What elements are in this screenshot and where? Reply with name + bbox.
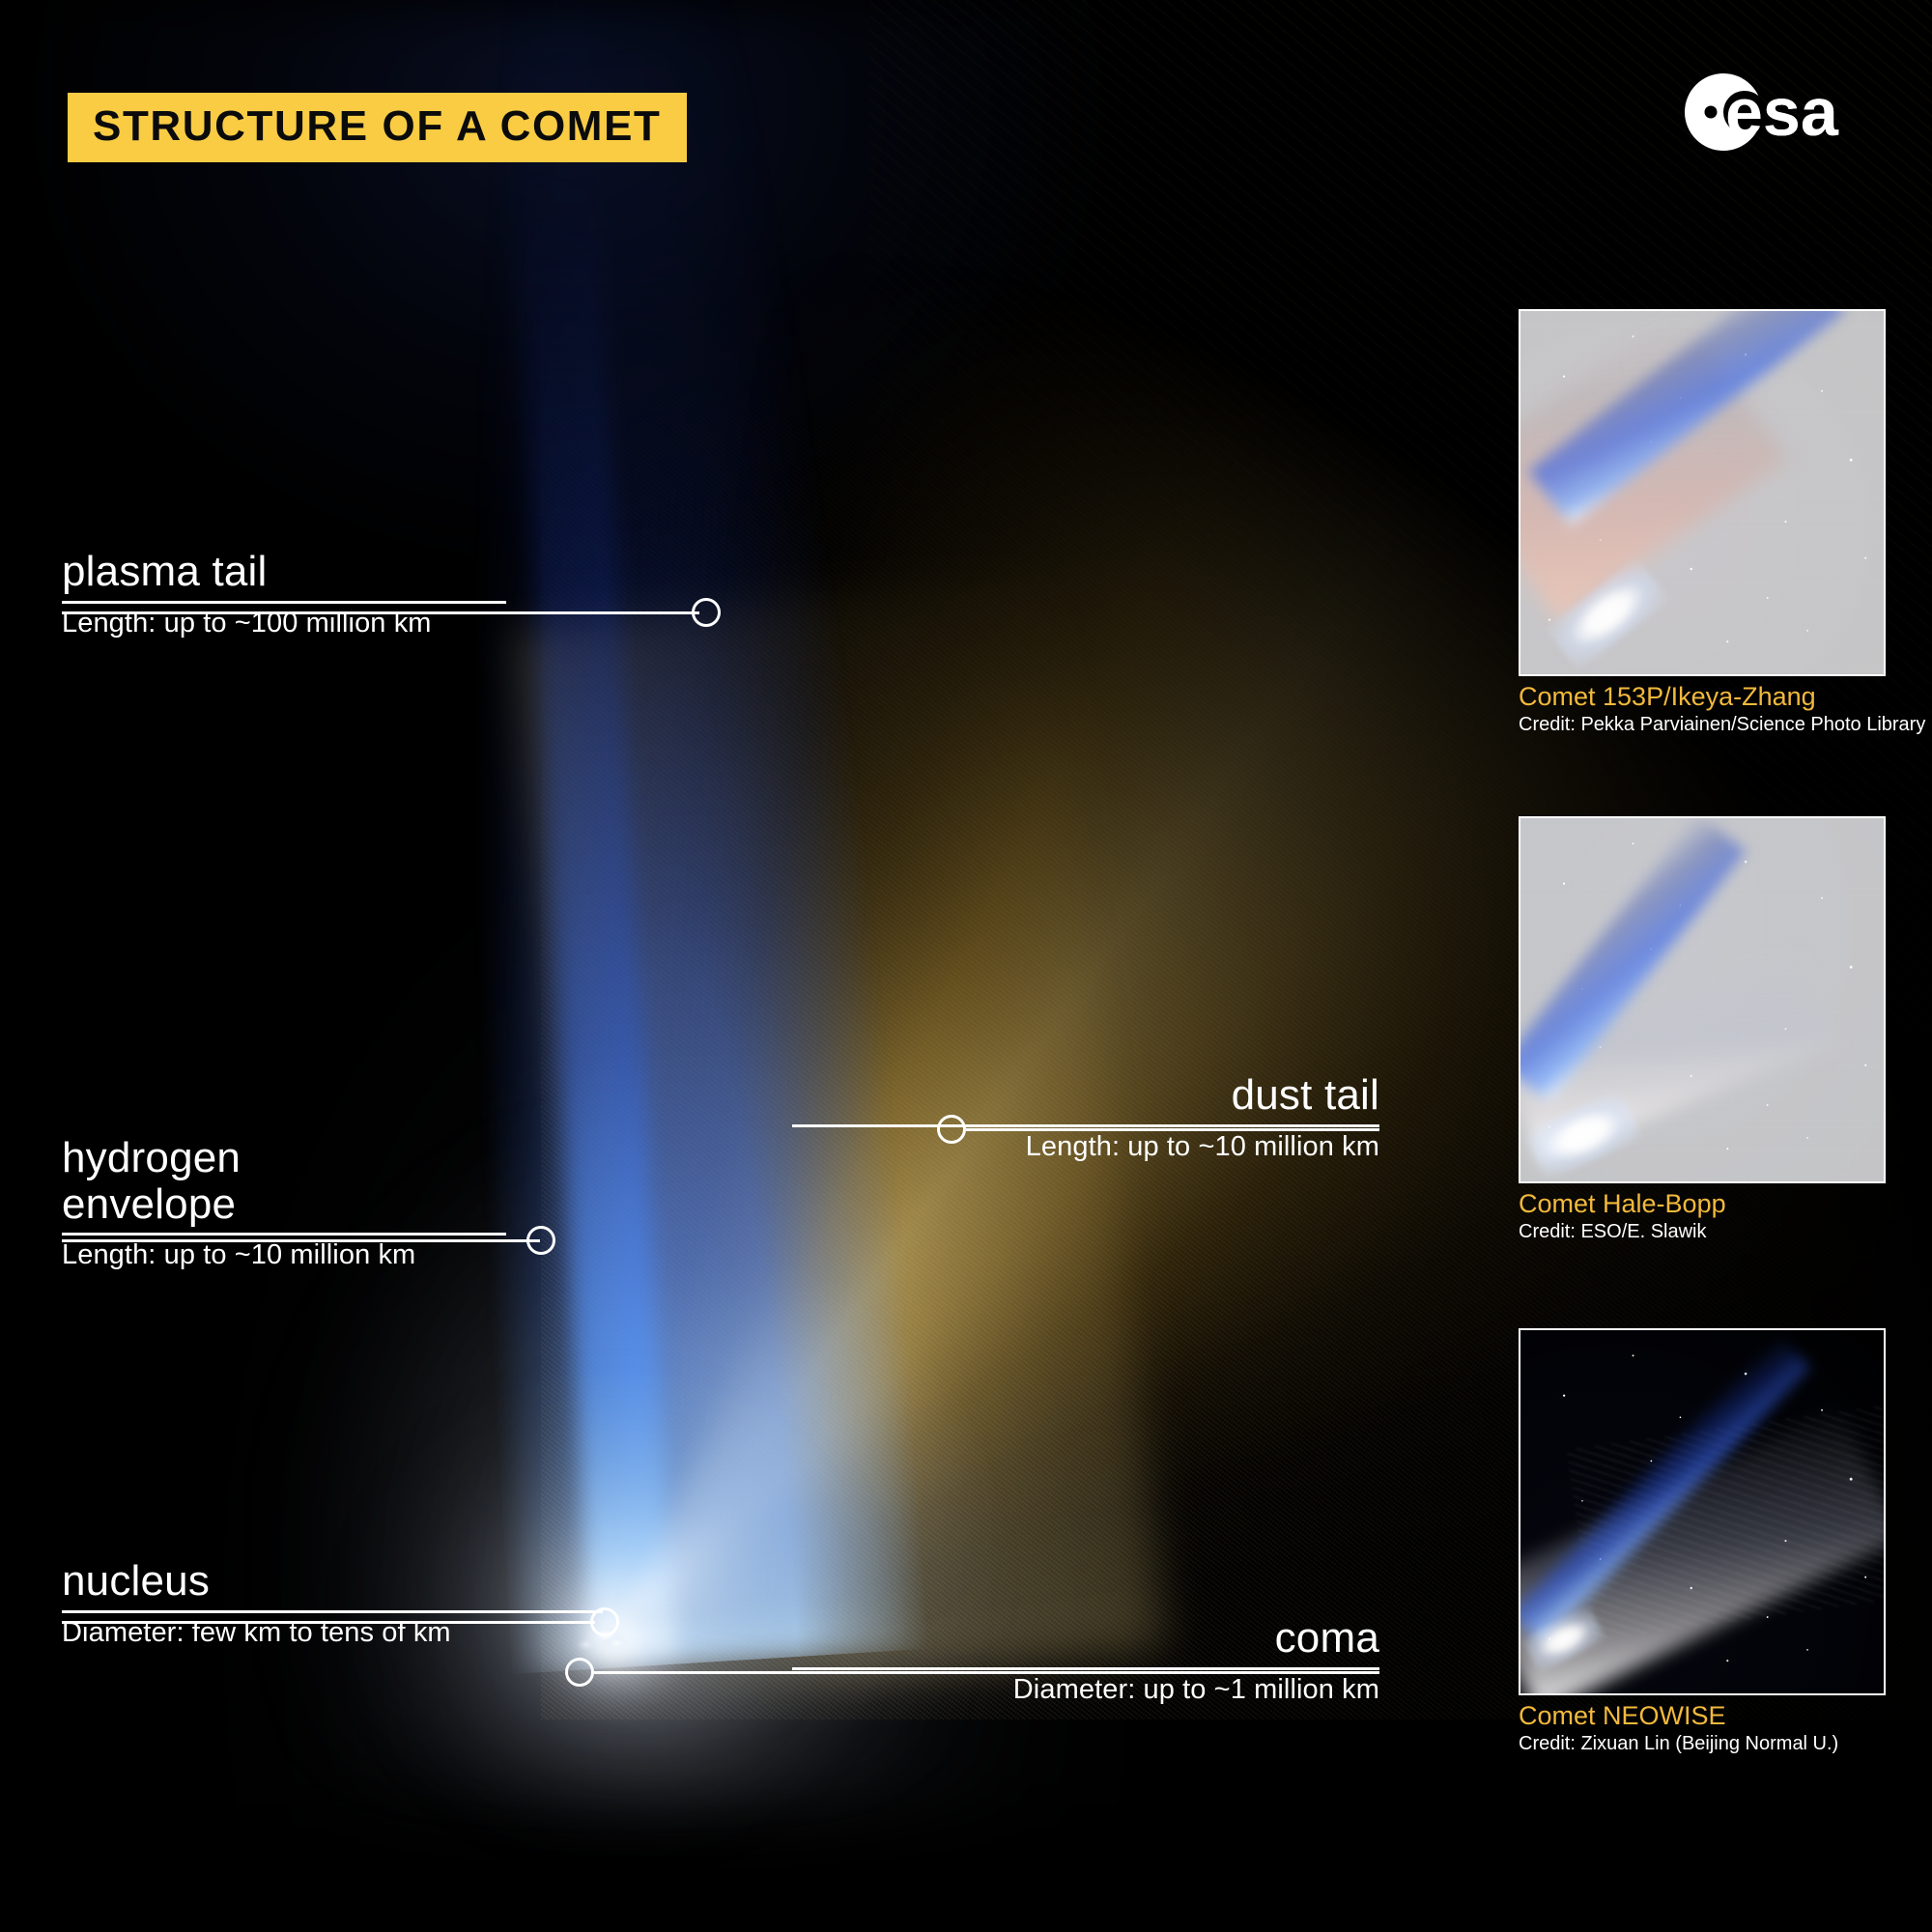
thumbnail-credit: Credit: Zixuan Lin (Beijing Normal U.) <box>1519 1733 1886 1755</box>
leader-line-plasma-tail <box>62 611 699 614</box>
marker-hydrogen-envelope <box>526 1226 555 1255</box>
callout-coma-subtitle: Diameter: up to ~1 million km <box>792 1674 1379 1706</box>
thumbnail-credit: Credit: ESO/E. Slawik <box>1519 1221 1886 1243</box>
callout-dust-tail-rule <box>792 1124 1379 1127</box>
callout-dust-tail-subtitle: Length: up to ~10 million km <box>792 1131 1379 1163</box>
thumbnail-caption: Comet Hale-Bopp <box>1519 1190 1886 1219</box>
thumbnail-credit: Credit: Pekka Parviainen/Science Photo L… <box>1519 714 1886 736</box>
thumbnail-image-ikeya-zhang <box>1519 309 1886 676</box>
leader-line-coma <box>594 1671 1379 1674</box>
callout-nucleus-rule <box>62 1610 603 1613</box>
callout-plasma-tail-rule <box>62 601 506 604</box>
callout-hydrogen-envelope-title-line2: envelope <box>62 1181 506 1228</box>
callout-hydrogen-envelope-title-line1: hydrogen <box>62 1135 506 1181</box>
esa-logo-wordmark-top: esa <box>1725 74 1839 150</box>
leader-line-hydrogen-envelope <box>62 1239 540 1242</box>
callout-hydrogen-envelope-rule <box>62 1233 506 1236</box>
leader-line-dust-tail <box>966 1128 1379 1131</box>
thumbnail-ikeya-zhang[interactable]: Comet 153P/Ikeya-Zhang Credit: Pekka Par… <box>1519 309 1886 736</box>
marker-nucleus <box>590 1607 619 1636</box>
comet-infographic: STRUCTURE OF A COMET esa esa plasma tail… <box>0 0 1932 1932</box>
callout-coma: coma Diameter: up to ~1 million km <box>792 1615 1379 1706</box>
thumbnail-image-hale-bopp <box>1519 816 1886 1183</box>
thumbnail-caption: Comet NEOWISE <box>1519 1702 1886 1731</box>
callout-coma-rule <box>792 1667 1379 1670</box>
callout-nucleus: nucleus Diameter: few km to tens of km <box>62 1558 603 1649</box>
thumbnail-neowise[interactable]: Comet NEOWISE Credit: Zixuan Lin (Beijin… <box>1519 1328 1886 1755</box>
callout-dust-tail-title: dust tail <box>792 1072 1379 1119</box>
callout-nucleus-title: nucleus <box>62 1558 603 1605</box>
callout-hydrogen-envelope-subtitle: Length: up to ~10 million km <box>62 1239 506 1271</box>
marker-dust-tail <box>937 1115 966 1144</box>
marker-coma <box>565 1658 594 1687</box>
esa-logo-dot <box>1705 106 1718 119</box>
callout-plasma-tail: plasma tail Length: up to ~100 million k… <box>62 549 506 639</box>
callout-hydrogen-envelope: hydrogen envelope Length: up to ~10 mill… <box>62 1135 506 1271</box>
thumbnail-hale-bopp[interactable]: Comet Hale-Bopp Credit: ESO/E. Slawik <box>1519 816 1886 1243</box>
callout-dust-tail: dust tail Length: up to ~10 million km <box>792 1072 1379 1163</box>
esa-logo[interactable]: esa esa <box>1685 71 1886 153</box>
thumbnail-caption: Comet 153P/Ikeya-Zhang <box>1519 683 1886 712</box>
page-title: STRUCTURE OF A COMET <box>68 93 687 162</box>
thumbnail-image-neowise <box>1519 1328 1886 1695</box>
callout-coma-title: coma <box>792 1615 1379 1662</box>
callout-plasma-tail-title: plasma tail <box>62 549 506 595</box>
leader-line-nucleus <box>62 1621 595 1624</box>
marker-plasma-tail <box>692 598 721 627</box>
